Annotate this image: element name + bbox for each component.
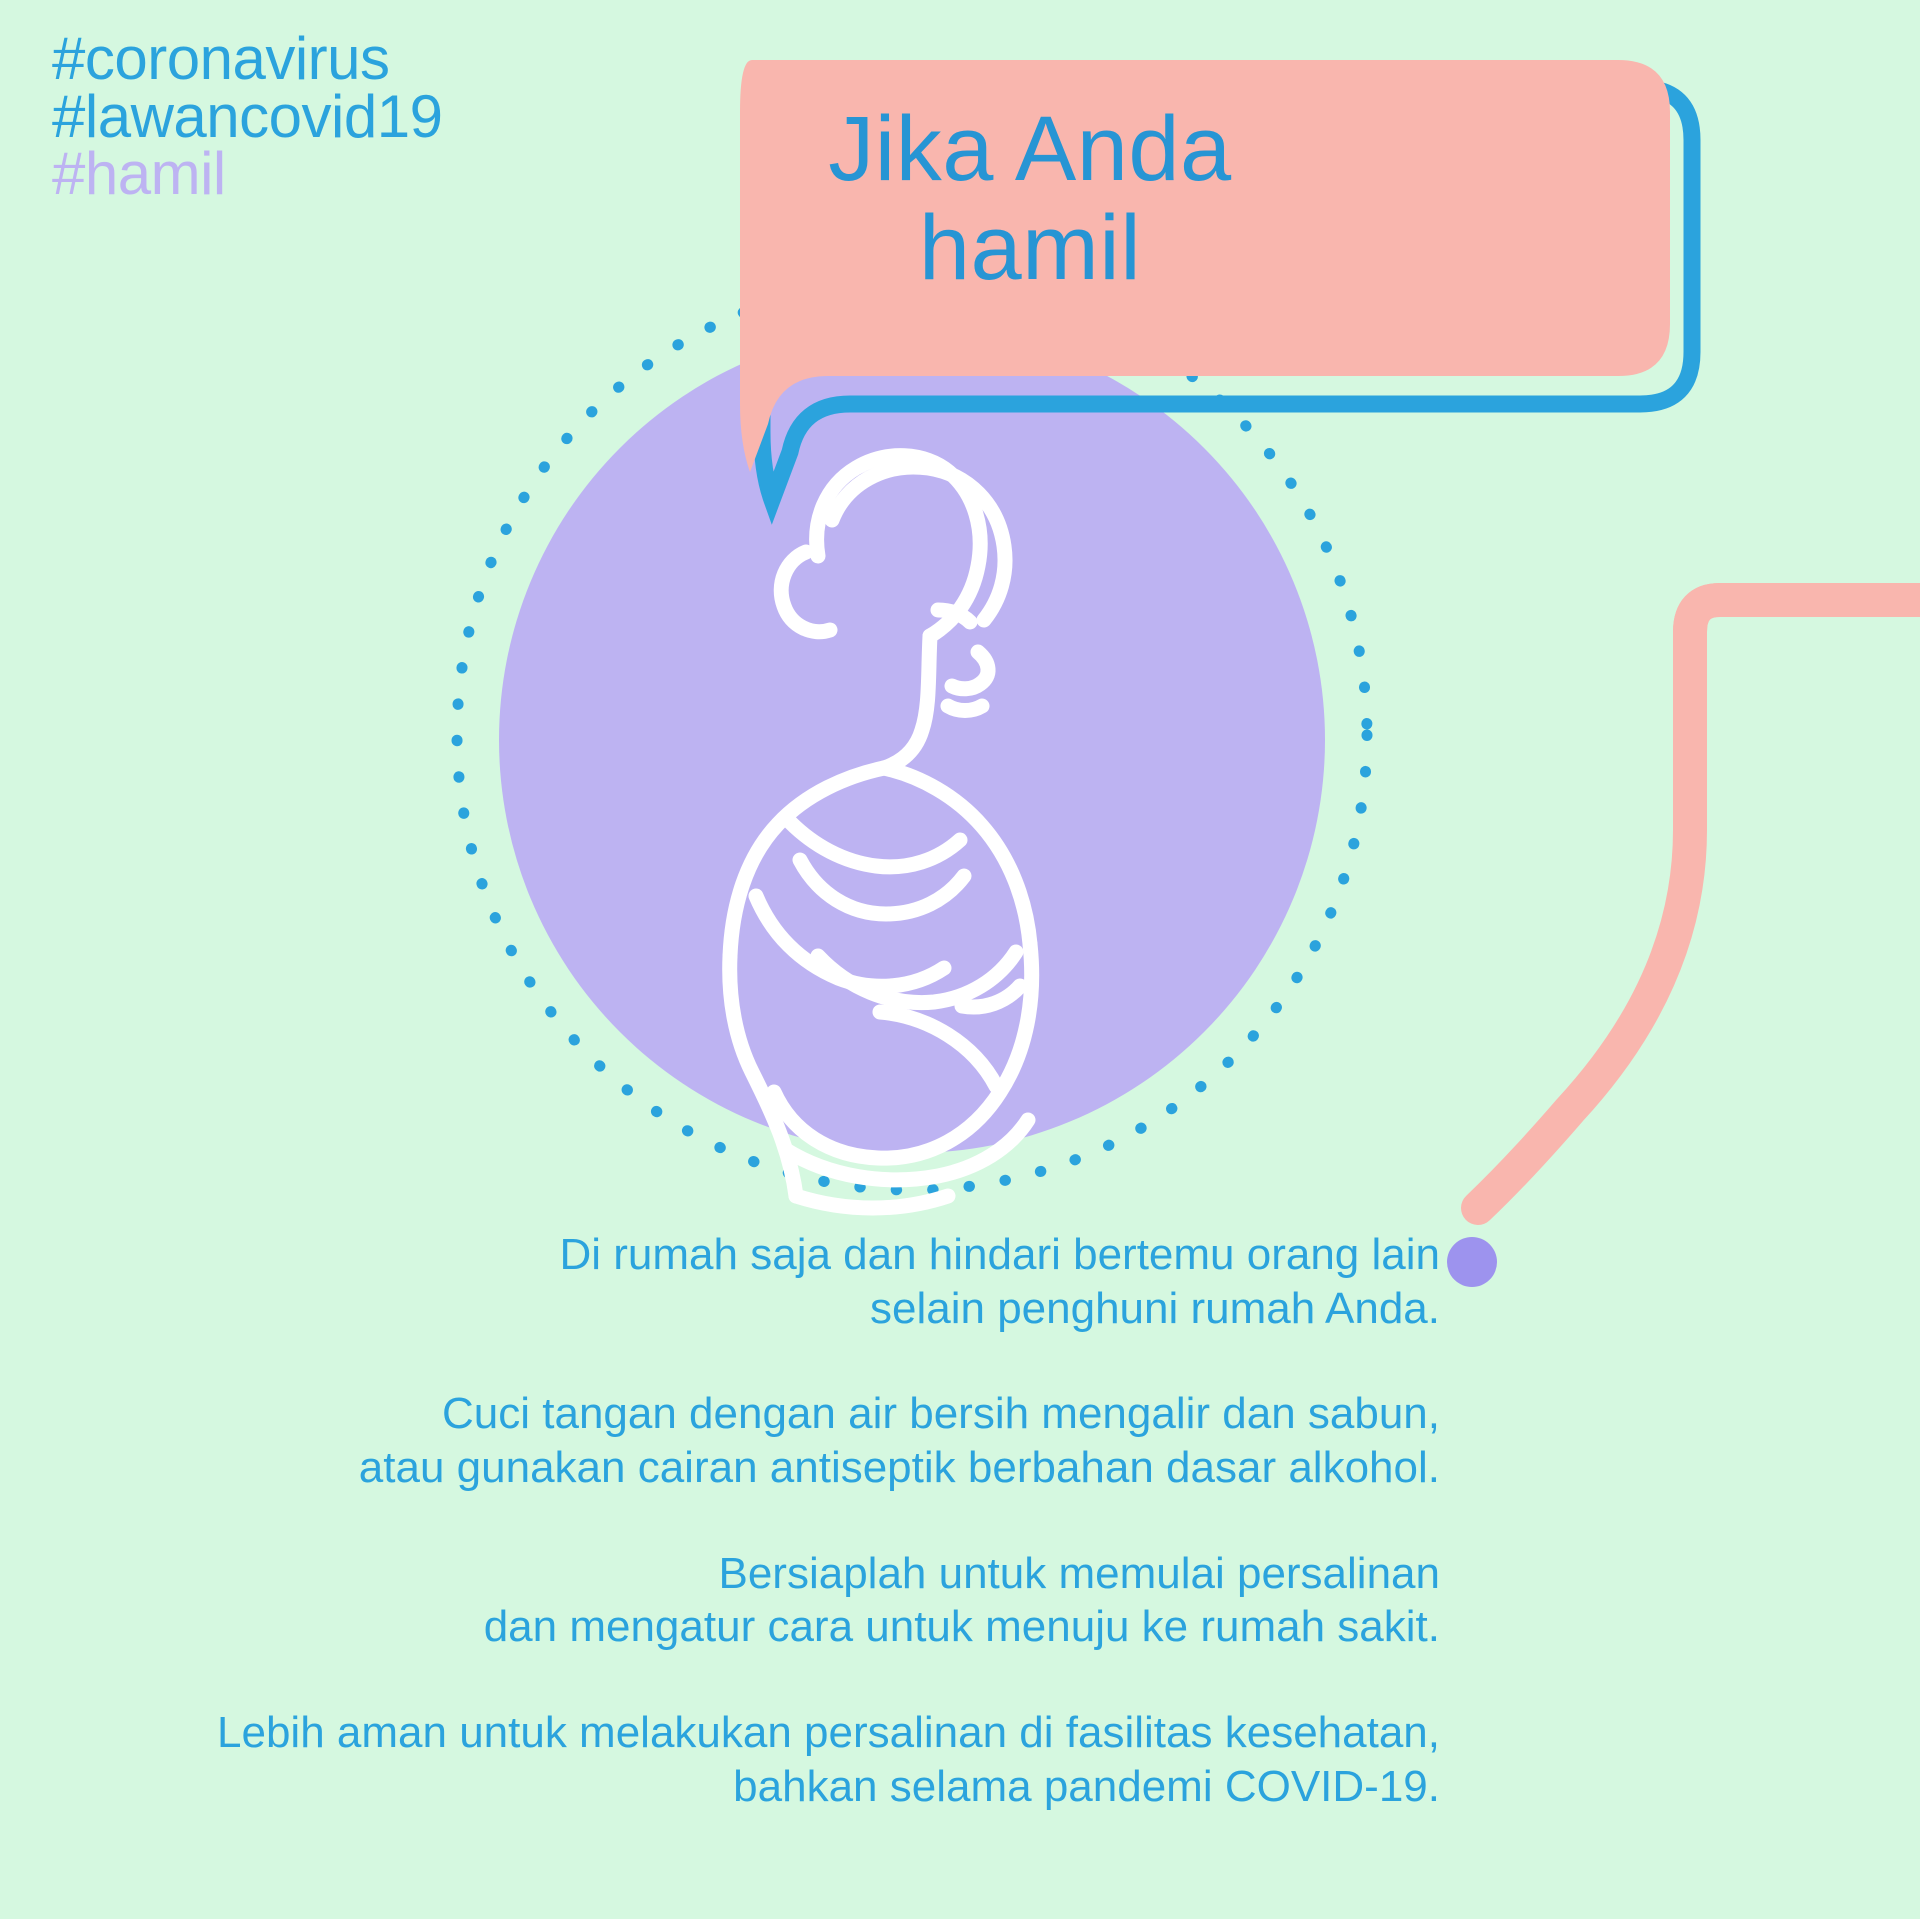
tip-1-line-1: Di rumah saja dan hindari bertemu orang … bbox=[60, 1228, 1440, 1282]
tip-4-line-1: Lebih aman untuk melakukan persalinan di… bbox=[60, 1706, 1440, 1760]
tip-item-4: Lebih aman untuk melakukan persalinan di… bbox=[60, 1706, 1440, 1813]
tip-item-3: Bersiaplah untuk memulai persalinan dan … bbox=[60, 1547, 1440, 1654]
tip-2-line-2: atau gunakan cairan antiseptik berbahan … bbox=[60, 1441, 1440, 1495]
hashtag-block: #coronavirus #lawancovid19 #hamil bbox=[52, 30, 442, 203]
tips-list: Di rumah saja dan hindari bertemu orang … bbox=[60, 1228, 1440, 1813]
bracket-end-dot bbox=[1447, 1237, 1497, 1287]
poster-canvas: #coronavirus #lawancovid19 #hamil Jika A… bbox=[0, 0, 1920, 1919]
tip-spacer bbox=[60, 1335, 1440, 1387]
speech-bubble-title: Jika Anda hamil bbox=[700, 100, 1360, 299]
tip-item-1: Di rumah saja dan hindari bertemu orang … bbox=[60, 1228, 1440, 1335]
hashtag-lawancovid19: #lawancovid19 bbox=[52, 88, 442, 146]
tip-spacer bbox=[60, 1495, 1440, 1547]
tip-1-line-2: selain penghuni rumah Anda. bbox=[60, 1282, 1440, 1336]
hashtag-hamil: #hamil bbox=[52, 145, 442, 203]
hashtag-coronavirus: #coronavirus bbox=[52, 30, 442, 88]
title-line-1: Jika Anda bbox=[700, 100, 1360, 199]
tip-3-line-1: Bersiaplah untuk memulai persalinan bbox=[60, 1547, 1440, 1601]
tip-2-line-1: Cuci tangan dengan air bersih mengalir d… bbox=[60, 1387, 1440, 1441]
tip-spacer bbox=[60, 1654, 1440, 1706]
tip-4-line-2: bahkan selama pandemi COVID-19. bbox=[60, 1760, 1440, 1814]
tip-item-2: Cuci tangan dengan air bersih mengalir d… bbox=[60, 1387, 1440, 1494]
tip-3-line-2: dan mengatur cara untuk menuju ke rumah … bbox=[60, 1600, 1440, 1654]
title-line-2: hamil bbox=[700, 199, 1360, 298]
